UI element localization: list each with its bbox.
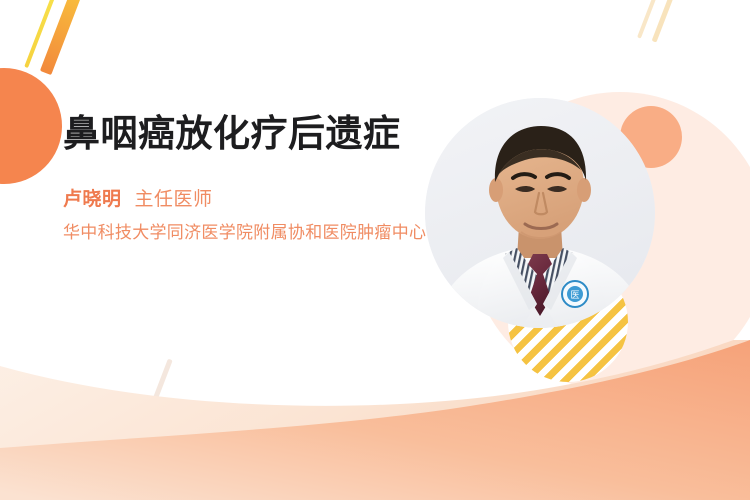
slash-faint-top-right-b-icon [652,0,682,43]
doctor-topic-banner: 医 [0,0,750,500]
page-title: 鼻咽癌放化疗后遗症 [63,110,403,157]
doctor-hospital: 华中科技大学同济医学院附属协和医院肿瘤中心 [63,220,448,245]
doctor-name: 卢晓明 [63,184,122,211]
bottom-wave-decoration [0,340,750,500]
svg-text:医: 医 [570,290,579,301]
slash-orange-top-left-icon [40,0,84,75]
slash-yellow-top-left-icon [24,0,56,68]
doctor-title: 主任医师 [135,184,213,211]
slash-faint-top-right-a-icon [637,0,663,39]
doctor-portrait-avatar: 医 [425,98,655,328]
circle-orange-left-decoration [0,68,62,184]
doctor-byline: 卢晓明 主任医师 [63,184,453,211]
banner-text-content: 鼻咽癌放化疗后遗症 卢晓明 主任医师 华中科技大学同济医学院附属协和医院肿瘤中心 [63,110,453,245]
